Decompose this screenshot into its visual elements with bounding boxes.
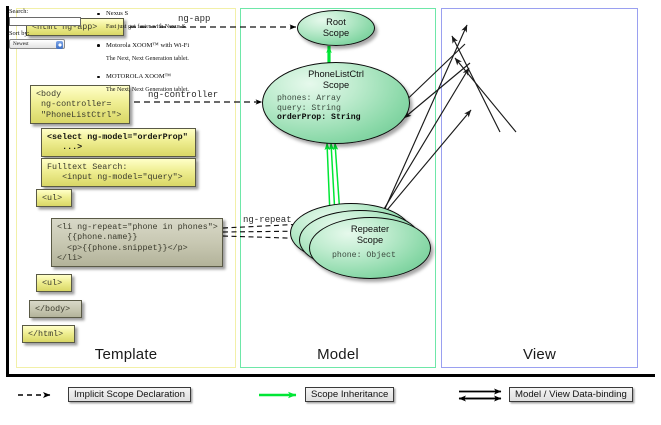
panel-model-label: Model: [241, 346, 435, 363]
search-input[interactable]: [9, 17, 81, 26]
scope-prop-orderprop: orderProp: String: [277, 113, 409, 123]
scope-repeater-props: phone: Object: [310, 251, 430, 261]
frame-left-bar: [6, 6, 9, 374]
connector-label-ng-repeat: ng-repeat: [243, 215, 292, 225]
legend-item-data-binding: Model / View Data-binding: [509, 387, 633, 402]
scope-phonelistctrl-props: phones: Array query: String orderProp: S…: [263, 94, 409, 123]
scope-root-title-2: Scope: [298, 28, 374, 39]
list-item[interactable]: Motorola XOOM™ with Wi-Fi The Next, Next…: [97, 42, 193, 63]
scope-repeater-title-2: Scope: [310, 235, 430, 246]
phone-name[interactable]: Nexus S: [97, 10, 193, 18]
legend: Implicit Scope Declaration Scope Inherit…: [6, 383, 655, 419]
code-box-select-tag[interactable]: <select ng-model="orderProp" ...>: [41, 128, 196, 157]
phone-snippet: Fast just got faster with Nexus S.: [97, 23, 193, 31]
scope-repeater[interactable]: Repeater Scope phone: Object: [309, 217, 431, 279]
scope-root-title-1: Root: [298, 17, 374, 28]
panel-view: View: [441, 8, 638, 368]
phone-list: Nexus S Fast just got faster with Nexus …: [97, 10, 193, 105]
scope-phonelistctrl[interactable]: PhoneListCtrl Scope phones: Array query:…: [262, 62, 410, 144]
legend-item-scope-inheritance: Scope Inheritance: [305, 387, 394, 402]
scope-root[interactable]: Root Scope: [297, 10, 375, 46]
list-item[interactable]: MOTOROLA XOOM™ The Next, Next Generation…: [97, 73, 193, 94]
panel-view-label: View: [442, 346, 637, 363]
legend-item-implicit-scope-declaration: Implicit Scope Declaration: [68, 387, 191, 402]
code-box-ul-open[interactable]: <ul>: [36, 189, 72, 207]
phone-name[interactable]: MOTOROLA XOOM™: [97, 73, 193, 81]
list-item[interactable]: Nexus S Fast just got faster with Nexus …: [97, 10, 193, 31]
scope-prop-phone: phone: Object: [332, 251, 430, 261]
scope-phonelistctrl-title-2: Scope: [263, 80, 409, 91]
frame-bottom-bar: [6, 374, 655, 377]
phone-snippet: The Next, Next Generation tablet.: [97, 86, 193, 94]
code-box-fulltext-search[interactable]: Fulltext Search: <input ng-model="query"…: [41, 158, 196, 187]
scope-repeater-title-1: Repeater: [310, 224, 430, 235]
view-search-form: Search: Sort by: Newest: [9, 8, 85, 49]
scope-prop-query: query: String: [277, 104, 409, 114]
sort-by-label: Sort by:: [9, 30, 85, 38]
code-box-ul-close[interactable]: <ul>: [36, 274, 72, 292]
sort-by-selected-value: Newest: [13, 41, 29, 47]
chevron-updown-icon[interactable]: [56, 41, 64, 49]
scope-phonelistctrl-title-1: PhoneListCtrl: [263, 69, 409, 80]
search-label: Search:: [9, 8, 85, 16]
panel-template-label: Template: [17, 346, 235, 363]
code-box-html-close[interactable]: </html>: [22, 325, 75, 343]
phone-name[interactable]: Motorola XOOM™ with Wi-Fi: [97, 42, 193, 50]
code-box-li-ng-repeat[interactable]: <li ng-repeat="phone in phones"> {{phone…: [51, 218, 223, 267]
code-box-body-close[interactable]: </body>: [29, 300, 82, 318]
scope-prop-phones: phones: Array: [277, 94, 409, 104]
phone-snippet: The Next, Next Generation tablet.: [97, 55, 193, 63]
diagram-canvas: Template Model View: [0, 0, 661, 425]
sort-by-select[interactable]: Newest: [9, 39, 65, 49]
